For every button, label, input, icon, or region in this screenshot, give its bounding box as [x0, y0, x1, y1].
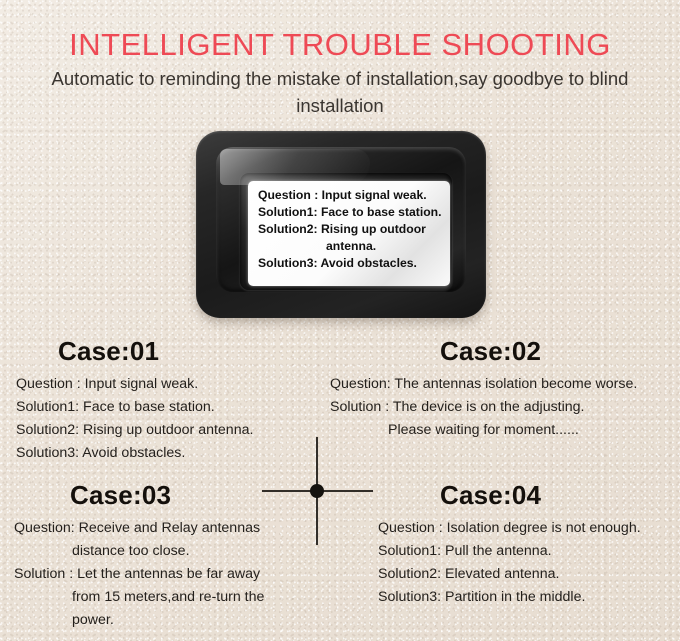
- case-text-line: Question: Receive and Relay antennas: [14, 517, 324, 540]
- lcd-text-line: antenna.: [248, 238, 450, 255]
- cross-divider-center-dot: [310, 484, 324, 498]
- case-text-line: from 15 meters,and re-turn the: [14, 586, 324, 609]
- case-text-line: Solution : The device is on the adjustin…: [330, 396, 675, 419]
- case-text-line: Please waiting for moment......: [330, 419, 675, 442]
- handheld-display-device: Question : Input signal weak.Solution1: …: [196, 131, 486, 318]
- lcd-text-line: Solution3: Avoid obstacles.: [248, 255, 450, 272]
- case-body-02: Question: The antennas isolation become …: [330, 373, 675, 442]
- lcd-text-line: Solution2: Rising up outdoor: [248, 221, 450, 238]
- case-text-line: Question : Isolation degree is not enoug…: [378, 517, 678, 540]
- case-body-03: Question: Receive and Relay antennasdist…: [14, 517, 324, 632]
- case-block-01: Case:01 Question : Input signal weak.Sol…: [16, 336, 326, 465]
- case-title-01: Case:01: [16, 336, 326, 367]
- page-subtitle: Automatic to reminding the mistake of in…: [30, 66, 650, 120]
- case-block-04: Case:04 Question : Isolation degree is n…: [378, 480, 678, 609]
- case-body-01: Question : Input signal weak.Solution1: …: [16, 373, 326, 465]
- case-text-line: Question : Input signal weak.: [16, 373, 326, 396]
- case-body-04: Question : Isolation degree is not enoug…: [378, 517, 678, 609]
- case-title-04: Case:04: [378, 480, 678, 511]
- case-block-02: Case:02 Question: The antennas isolation…: [330, 336, 675, 442]
- case-title-02: Case:02: [330, 336, 675, 367]
- page-root: INTELLIGENT TROUBLE SHOOTING Automatic t…: [0, 0, 680, 641]
- case-text-line: Solution1: Pull the antenna.: [378, 540, 678, 563]
- case-text-line: Solution2: Rising up outdoor antenna.: [16, 419, 326, 442]
- case-text-line: Solution3: Avoid obstacles.: [16, 442, 326, 465]
- case-text-line: Solution2: Elevated antenna.: [378, 563, 678, 586]
- case-title-03: Case:03: [14, 480, 324, 511]
- device-lcd-screen: Question : Input signal weak.Solution1: …: [248, 181, 450, 286]
- lcd-text-line: Solution1: Face to base station.: [248, 204, 450, 221]
- case-text-line: Solution : Let the antennas be far away: [14, 563, 324, 586]
- case-text-line: power.: [14, 609, 324, 632]
- page-title: INTELLIGENT TROUBLE SHOOTING: [0, 28, 680, 62]
- case-text-line: Solution1: Face to base station.: [16, 396, 326, 419]
- case-text-line: Question: The antennas isolation become …: [330, 373, 675, 396]
- lcd-text-line: Question : Input signal weak.: [248, 187, 450, 204]
- case-text-line: Solution3: Partition in the middle.: [378, 586, 678, 609]
- case-text-line: distance too close.: [14, 540, 324, 563]
- case-block-03: Case:03 Question: Receive and Relay ante…: [14, 480, 324, 632]
